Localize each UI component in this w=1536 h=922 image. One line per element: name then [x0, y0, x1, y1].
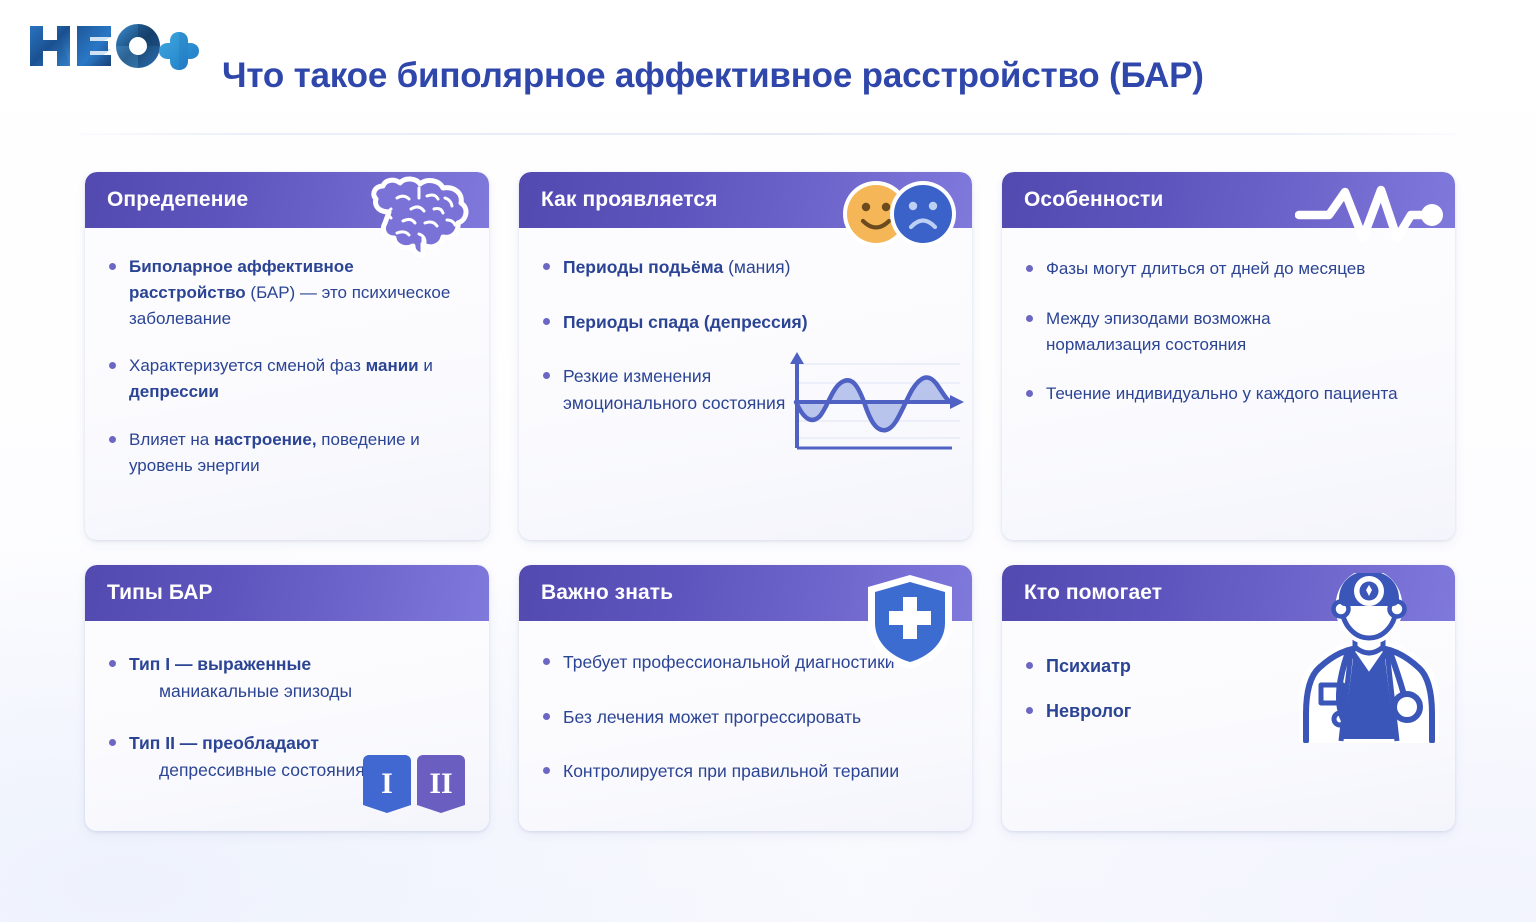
list-item: Периоды спада (депрессия) — [541, 309, 950, 336]
card-important-title: Важно знать — [519, 581, 673, 605]
mood-swing-chart — [774, 350, 964, 454]
list-item: Биполарное аффективное расстройство (БАР… — [107, 254, 467, 331]
badge-label-one: I — [381, 767, 393, 800]
card-who-helps-header: Кто помогает — [1002, 565, 1455, 621]
bullet-subtext: маниакальные эпизоды — [129, 678, 467, 705]
bullet-text-bold: настроение, — [214, 430, 317, 449]
card-types-body: Тип I — выраженные маниакальные эпизоды … — [85, 621, 489, 831]
bullet-text-bold: Периоды подьёма — [563, 257, 723, 277]
bullet-text: (мания) — [723, 257, 790, 277]
card-manifestation-title: Как проявляется — [519, 188, 717, 212]
card-who-helps[interactable]: Кто помогает Психиатр Невролог — [1002, 565, 1455, 831]
neo-plus-logo[interactable] — [22, 18, 202, 74]
card-definition[interactable]: Опредепение Биполарное аффективное расст… — [85, 172, 489, 540]
card-features-title: Особенности — [1002, 188, 1163, 212]
list-item: Между эпизодами возможна нормализация со… — [1024, 306, 1324, 358]
card-types[interactable]: Типы БАР Тип I — выраженные маниакальные… — [85, 565, 489, 831]
bullet-text: Течение индивидуально у каждого пациента — [1046, 384, 1398, 403]
card-who-helps-bullet-list: Психиатр Невролог — [1024, 653, 1433, 726]
list-item: Характеризуется сменой фаз мании и депре… — [107, 353, 467, 405]
card-manifestation[interactable]: Как проявляется Периоды подьёма (мания) … — [519, 172, 972, 540]
card-important-body: Требует профессиональной диагностики Без… — [519, 621, 972, 831]
list-item: Невролог — [1024, 698, 1433, 725]
bullet-text-bold: Тип I — выраженные — [129, 654, 311, 674]
card-definition-header: Опредепение — [85, 172, 489, 228]
card-definition-body: Биполарное аффективное расстройство (БАР… — [85, 228, 489, 540]
page-header: Что такое биполярное аффективное расстро… — [0, 0, 1536, 140]
list-item: Влияет на настроение, поведение и уровен… — [107, 427, 467, 479]
bullet-text: Между эпизодами возможна нормализация со… — [1046, 309, 1271, 354]
list-item: Контролируется при правильной терапии — [541, 758, 950, 785]
bullet-text-bold: депрессии — [129, 382, 219, 401]
card-features-inner: Особенности Фазы могут длиться от дней д… — [1002, 172, 1455, 540]
bullet-text-bold: Периоды спада (депрессия) — [563, 312, 808, 332]
bullet-text: Без лечения может прогрессировать — [563, 707, 861, 727]
card-types-title: Типы БАР — [85, 581, 213, 605]
card-manifestation-body: Периоды подьёма (мания) Периоды спада (д… — [519, 228, 972, 540]
list-item: Течение индивидуально у каждого пациента — [1024, 381, 1433, 407]
list-item: Требует профессиональной диагностики — [541, 649, 950, 676]
card-who-helps-title: Кто помогает — [1002, 581, 1162, 605]
card-features-body: Фазы могут длиться от дней до месяцев Ме… — [1002, 228, 1455, 540]
bullet-text-bold: Тип II — преобладают — [129, 733, 319, 753]
bullet-text-bold: Невролог — [1046, 701, 1131, 721]
bullet-text: и — [419, 356, 433, 375]
bullet-text: Влияет на — [129, 430, 214, 449]
card-manifestation-inner: Как проявляется Периоды подьёма (мания) … — [519, 172, 972, 540]
card-features-header: Особенности — [1002, 172, 1455, 228]
bullet-text-bold: Психиатр — [1046, 656, 1131, 676]
bullet-text: Резкие изменения эмоционального состояни… — [563, 366, 785, 413]
card-who-helps-inner: Кто помогает Психиатр Невролог — [1002, 565, 1455, 831]
bullet-text: Характеризуется сменой фаз — [129, 356, 366, 375]
bullet-text-bold: мании — [366, 356, 419, 375]
card-important-inner: Важно знать Требует профессиональной диа… — [519, 565, 972, 831]
type-badges-icon: I II — [361, 753, 467, 815]
card-important-bullet-list: Требует профессиональной диагностики Без… — [541, 649, 950, 785]
card-definition-bullet-list: Биполарное аффективное расстройство (БАР… — [107, 254, 467, 479]
list-item: Фазы могут длиться от дней до месяцев — [1024, 256, 1433, 282]
card-definition-inner: Опредепение Биполарное аффективное расст… — [85, 172, 489, 540]
card-features-bullet-list: Фазы могут длиться от дней до месяцев Ме… — [1024, 256, 1433, 407]
card-grid: Опредепение Биполарное аффективное расст… — [85, 172, 1455, 831]
card-who-helps-body: Психиатр Невролог — [1002, 621, 1455, 831]
card-important[interactable]: Важно знать Требует профессиональной диа… — [519, 565, 972, 831]
page-title: Что такое биполярное аффективное расстро… — [222, 56, 1204, 96]
bullet-text: Требует профессиональной диагностики — [563, 652, 895, 672]
list-item: Психиатр — [1024, 653, 1433, 680]
bullet-text: Контролируется при правильной терапии — [563, 761, 899, 781]
list-item: Периоды подьёма (мания) — [541, 254, 950, 281]
list-item: Тип I — выраженные маниакальные эпизоды — [107, 651, 467, 704]
badge-label-two: II — [429, 767, 452, 800]
card-manifestation-header: Как проявляется — [519, 172, 972, 228]
card-definition-title: Опредепение — [85, 188, 248, 212]
list-item: Без лечения может прогрессировать — [541, 704, 950, 731]
card-types-inner: Типы БАР Тип I — выраженные маниакальные… — [85, 565, 489, 831]
card-types-header: Типы БАР — [85, 565, 489, 621]
bullet-text: Фазы могут длиться от дней до месяцев — [1046, 259, 1365, 278]
list-item: Резкие изменения эмоционального состояни… — [541, 363, 791, 416]
card-features[interactable]: Особенности Фазы могут длиться от дней д… — [1002, 172, 1455, 540]
header-divider — [80, 133, 1456, 135]
card-important-header: Важно знать — [519, 565, 972, 621]
